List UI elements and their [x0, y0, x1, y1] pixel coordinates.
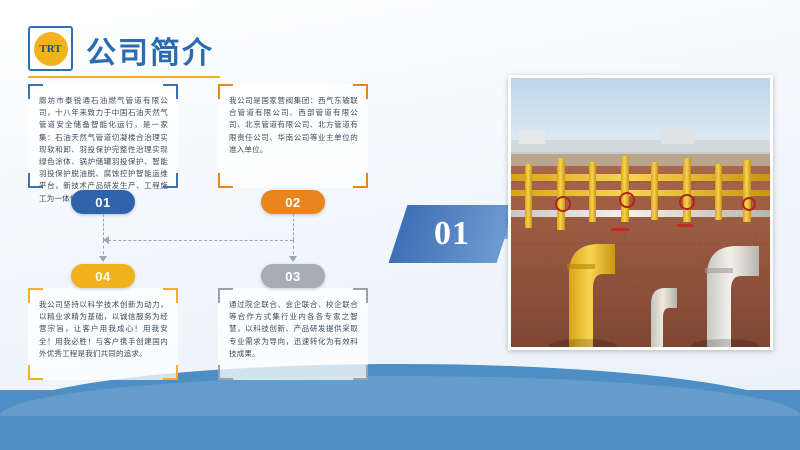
card-02-text: 我公司是国家营阀集团：西气东输联合管道有限公司、西部管道有限公司、北京管道有限公…: [229, 95, 358, 156]
card-04-text: 我公司坚持以科学技术创新为动力，以精业求精为基础，以诚信服务为经营宗旨，让客户用…: [39, 299, 168, 360]
bracket-bottom-right: [163, 365, 178, 380]
connector-arrow-down-left: [99, 256, 107, 262]
bracket-top-right: [353, 288, 368, 303]
slide-root: TRT 公司简介 廊坊市泰锐通石油燃气管道有限公司，十八年来致力于中国石油天然气…: [0, 0, 800, 450]
bracket-top-left: [28, 288, 43, 303]
card-02: 我公司是国家营阀集团：西气东输联合管道有限公司、西部管道有限公司、北京管道有限公…: [218, 84, 368, 188]
connector-arrow-left: [103, 236, 109, 244]
card-03-text: 通过院企联合、会企联合、校企联合等合作方式集行业内各各专家之智慧，以科技创新、产…: [229, 299, 358, 360]
bracket-bottom-right: [353, 365, 368, 380]
bottom-wave-decoration: [0, 390, 800, 450]
logo-circle: TRT: [34, 32, 68, 66]
section-number-banner: 01: [389, 205, 516, 263]
bracket-bottom-right: [163, 173, 178, 188]
photo-illustration: [511, 78, 770, 347]
logo-text: TRT: [39, 43, 61, 55]
card-03-number[interactable]: 03: [261, 264, 325, 288]
bracket-top-left: [28, 84, 43, 99]
connector-arrow-down-right: [289, 256, 297, 262]
bracket-bottom-left: [28, 173, 43, 188]
card-04-number[interactable]: 04: [71, 264, 135, 288]
card-01-number[interactable]: 01: [71, 190, 135, 214]
bracket-top-right: [353, 84, 368, 99]
card-01: 廊坊市泰锐通石油燃气管道有限公司，十八年来致力于中国石油天然气管道安全储备智能化…: [28, 84, 178, 188]
bracket-bottom-left: [28, 365, 43, 380]
bracket-top-left: [218, 288, 233, 303]
card-04: 我公司坚持以科学技术创新为动力，以精业求精为基础，以诚信服务为经营宗旨，让客户用…: [28, 288, 178, 380]
bracket-top-right: [163, 84, 178, 99]
card-01-text: 廊坊市泰锐通石油燃气管道有限公司，十八年来致力于中国石油天然气管道安全储备智能化…: [39, 95, 168, 205]
bracket-bottom-right: [353, 173, 368, 188]
company-logo: TRT: [28, 26, 73, 71]
section-number-text: 01: [434, 215, 470, 253]
page-title: 公司简介: [86, 28, 214, 72]
bracket-top-left: [218, 84, 233, 99]
card-02-number[interactable]: 02: [261, 190, 325, 214]
card-03: 通过院企联合、会企联合、校企联合等合作方式集行业内各各专家之智慧，以科技创新、产…: [218, 288, 368, 380]
connector-horizontal-top: [103, 240, 293, 241]
pipeline-station-photo: [508, 75, 773, 350]
connector-vertical-right-up: [293, 214, 294, 240]
bracket-top-right: [163, 288, 178, 303]
title-underline: [28, 76, 220, 78]
bracket-bottom-left: [218, 173, 233, 188]
bracket-bottom-left: [218, 365, 233, 380]
